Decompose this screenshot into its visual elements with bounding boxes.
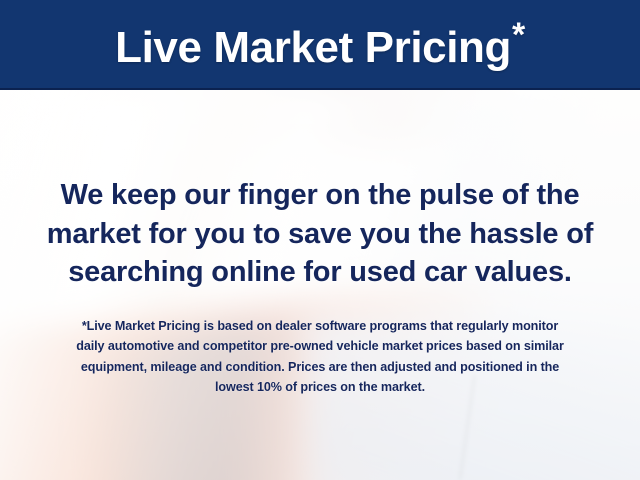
- headline-line-1: We keep our finger on the pulse of the: [22, 176, 618, 215]
- disclaimer-line-2: daily automotive and competitor pre-owne…: [26, 336, 614, 356]
- page-title: Live Market Pricing*: [115, 18, 525, 70]
- headline-line-3: searching online for used car values.: [22, 253, 618, 292]
- page-title-asterisk: *: [512, 16, 525, 54]
- disclaimer-line-4: lowest 10% of prices on the market.: [26, 377, 614, 397]
- page-title-text: Live Market Pricing: [115, 23, 511, 72]
- live-market-pricing-promo-card: Live Market Pricing* We keep our finger …: [0, 0, 640, 480]
- disclaimer-line-3: equipment, mileage and condition. Prices…: [26, 357, 614, 377]
- headline-line-2: market for you to save you the hassle of: [22, 215, 618, 254]
- headline: We keep our finger on the pulse of the m…: [0, 176, 640, 292]
- header-banner: Live Market Pricing*: [0, 0, 640, 90]
- disclaimer-line-1: *Live Market Pricing is based on dealer …: [26, 316, 614, 336]
- disclaimer-text: *Live Market Pricing is based on dealer …: [0, 316, 640, 398]
